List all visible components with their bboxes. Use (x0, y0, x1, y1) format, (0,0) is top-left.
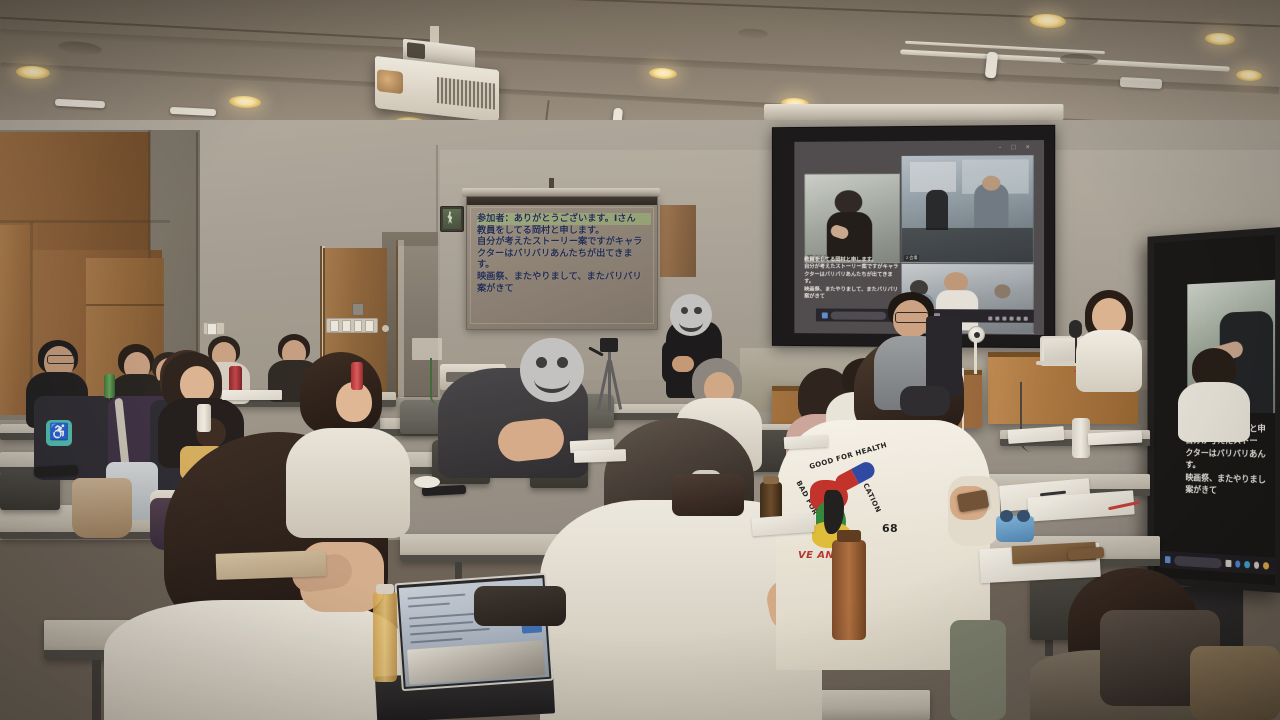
drink-bottle-red[interactable] (351, 362, 363, 390)
caption-line: 自分が考えたストーリー案ですがキャラ (477, 236, 651, 248)
video-tile-interpreter[interactable]: 1 手話通訳 (804, 173, 900, 263)
paper-sheet[interactable] (222, 390, 282, 400)
eyeglasses-icon (895, 312, 929, 323)
caption-line: 案がきて (1185, 483, 1280, 499)
small-cup[interactable] (414, 476, 440, 488)
window-controls[interactable]: - □ × (999, 144, 1034, 151)
left-projection-screen: 参加者：ありがとうございます。Iさん 教員をしてる岡村と申します。 自分が考えた… (466, 196, 658, 330)
taskbar-search-box[interactable] (831, 311, 886, 319)
taskbar-icon[interactable] (1263, 562, 1269, 570)
caption-line: 案がきて (477, 283, 651, 295)
taskbar-search-box[interactable] (1174, 555, 1222, 568)
paper-sheet[interactable] (574, 449, 626, 463)
caption-line: 参加者：ありがとうございます。Iさん (477, 213, 651, 225)
drink-bottle-tea[interactable] (373, 592, 397, 682)
start-icon[interactable] (822, 312, 828, 318)
folder[interactable] (216, 550, 327, 580)
face-anonymization-smiley-icon (670, 294, 712, 336)
video-tile-room[interactable]: 2 会場 (901, 154, 1034, 263)
door-knob-icon[interactable] (382, 325, 389, 332)
laptop-reflection (407, 640, 545, 684)
bag (72, 478, 132, 538)
hand (672, 356, 694, 372)
eyeglasses-icon (47, 355, 75, 364)
camera-tripod[interactable] (590, 338, 634, 410)
door-notice-sign (412, 338, 442, 360)
wheelchair-control[interactable] (900, 386, 950, 416)
conference-room-photo: 参加者：ありがとうございます。Iさん 教員をしてる岡村と申します。 自分が考えた… (0, 0, 1280, 720)
caption-line: クターはバリバリあんたちが出てきま (804, 272, 913, 280)
tote-bag (1190, 646, 1280, 720)
wall-sensor-icon (352, 303, 364, 316)
wall-outlet-plate[interactable] (203, 322, 225, 335)
taskbar-icon[interactable] (1235, 560, 1240, 567)
tshirt-number: 68 (882, 522, 898, 535)
face-anonymization-smiley-icon (520, 338, 584, 402)
caption-line: 自分が考えたストーリー案ですがキャラ (804, 264, 913, 272)
ceiling-track-light (1120, 77, 1162, 89)
taskbar-icon[interactable] (1245, 561, 1250, 568)
paper-cup[interactable] (197, 404, 211, 432)
table-leg (92, 660, 101, 720)
left-screen-caption: 参加者：ありがとうございます。Iさん 教員をしてる岡村と申します。 自分が考えた… (477, 213, 651, 294)
meeting-controls[interactable] (988, 316, 1027, 320)
wall-panel-seam (0, 220, 170, 223)
bag-on-table (672, 474, 744, 516)
caption-line: す。 (477, 259, 651, 271)
thermos-bottle[interactable] (832, 540, 866, 640)
caption-line: 映画祭、またやりまして、またバリバリ (477, 271, 651, 283)
exit-sign-icon (440, 206, 464, 232)
bag-on-table (474, 586, 566, 626)
taskbar-icon[interactable] (1254, 561, 1260, 568)
wall-switch-plate[interactable] (326, 318, 378, 333)
projector-vent-grill (437, 77, 495, 110)
paper-sheet[interactable] (784, 435, 829, 449)
webcam-stand[interactable] (966, 326, 986, 374)
container-lid (1000, 510, 1013, 522)
projector-lens (377, 69, 403, 94)
shorts (950, 620, 1006, 720)
drink-bottle-green[interactable] (104, 374, 115, 398)
wheelchair-icon: ♿ (49, 425, 69, 441)
taskbar-icon[interactable] (1226, 560, 1231, 567)
caption-line: 教員をしてる岡村と申します。 (477, 225, 651, 237)
tshirt-text-bottom: VE AN (798, 550, 834, 561)
wall-wood-accent (660, 205, 696, 277)
caption-line: クターはバリバリあんたちが出てきま (477, 248, 651, 260)
accessible-tag-icon: ♿ (46, 420, 72, 446)
tshirt-text-right: CATION (861, 482, 882, 514)
wheelchair-headrest (926, 316, 962, 396)
screen-casing (764, 104, 1063, 120)
container-lid (1017, 510, 1030, 522)
monitor-taskbar[interactable] (1159, 551, 1275, 575)
start-icon[interactable] (1165, 556, 1170, 563)
